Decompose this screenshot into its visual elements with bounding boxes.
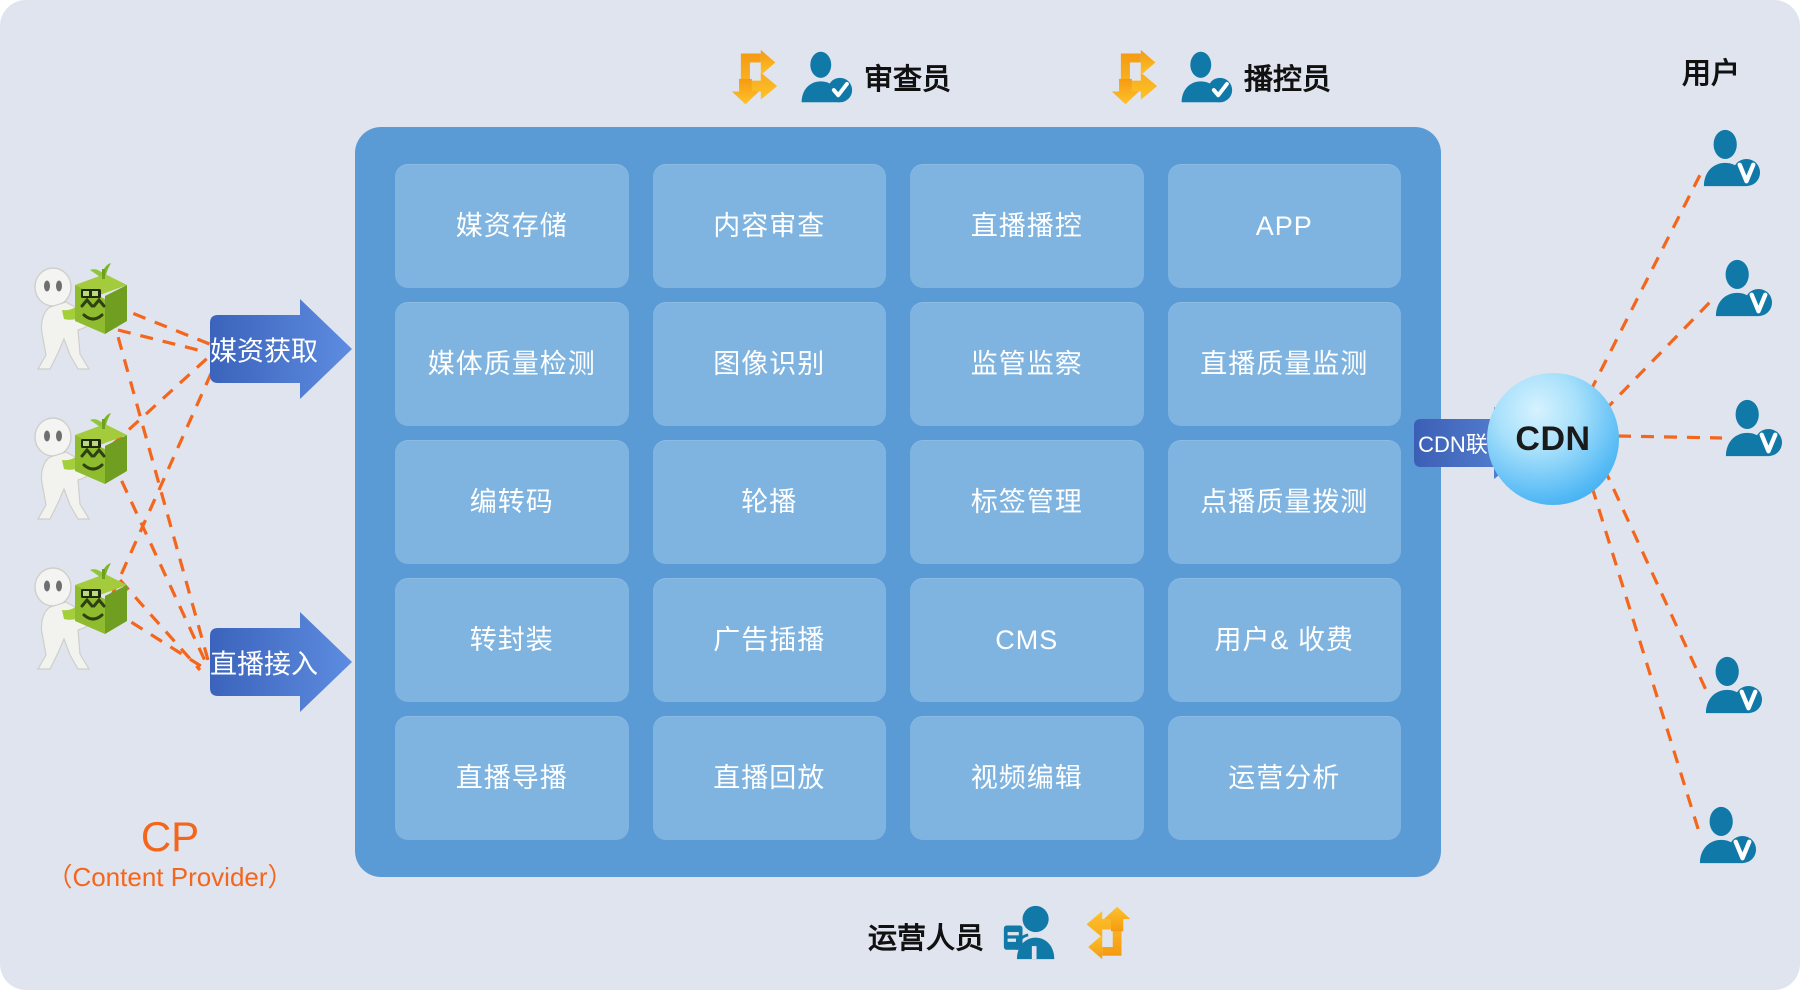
tile-app[interactable]: APP xyxy=(1168,164,1402,288)
tile-label: CMS xyxy=(995,624,1058,656)
capability-grid: 媒资存储 内容审查 直播播控 APP 媒体质量检测 图像识别 监管监察 直播质量… xyxy=(395,164,1401,840)
tile-supervision[interactable]: 监管监察 xyxy=(910,302,1144,426)
cp-full-name: （Content Provider） xyxy=(30,859,310,897)
tile-content-review[interactable]: 内容审查 xyxy=(653,164,887,288)
cp-actor xyxy=(20,405,130,520)
tile-label: 运营分析 xyxy=(1228,762,1340,794)
arrow-media-acquisition[interactable]: 媒资获取 xyxy=(200,295,360,403)
tile-label: 标签管理 xyxy=(971,486,1083,518)
tile-label: 编转码 xyxy=(470,486,554,518)
tile-image-recognition[interactable]: 图像识别 xyxy=(653,302,887,426)
tile-label: 直播质量监测 xyxy=(1200,348,1368,380)
tile-label: 媒体质量检测 xyxy=(428,348,596,380)
tile-label: 图像识别 xyxy=(713,348,825,380)
tile-media-quality-check[interactable]: 媒体质量检测 xyxy=(395,302,629,426)
tile-user-and-billing[interactable]: 用户& 收费 xyxy=(1168,578,1402,702)
fork-arrow-left-up-icon xyxy=(1076,905,1132,966)
user-icon xyxy=(1696,805,1758,865)
tile-repackaging[interactable]: 转封装 xyxy=(395,578,629,702)
diagram-canvas: 媒资存储 内容审查 直播播控 APP 媒体质量检测 图像识别 监管监察 直播质量… xyxy=(0,0,1800,990)
person-check-icon xyxy=(1178,50,1234,104)
tile-media-storage[interactable]: 媒资存储 xyxy=(395,164,629,288)
person-check-icon xyxy=(798,50,854,104)
role-label-reviewer: 审查员 xyxy=(864,56,951,98)
tile-label: 轮播 xyxy=(741,486,797,518)
cp-actor xyxy=(20,255,130,370)
role-broadcast-controller[interactable]: 播控员 xyxy=(1110,48,1331,106)
cp-abbreviation: CP xyxy=(30,815,310,859)
tile-live-control[interactable]: 直播播控 xyxy=(910,164,1144,288)
user-icon xyxy=(1700,128,1762,188)
tile-live-directing[interactable]: 直播导播 xyxy=(395,716,629,840)
tile-transcoding[interactable]: 编转码 xyxy=(395,440,629,564)
user-icon xyxy=(1722,398,1784,458)
tile-label: 直播回放 xyxy=(713,762,825,794)
fork-arrow-icon xyxy=(730,48,788,106)
tile-label: APP xyxy=(1256,210,1313,242)
arrow-label: 媒资获取 xyxy=(208,330,320,369)
tile-ad-insertion[interactable]: 广告插播 xyxy=(653,578,887,702)
media-platform-panel: 媒资存储 内容审查 直播播控 APP 媒体质量检测 图像识别 监管监察 直播质量… xyxy=(355,127,1441,877)
ops-label: 运营人员 xyxy=(868,915,984,957)
person-badge-icon xyxy=(1000,905,1060,966)
tile-video-editing[interactable]: 视频编辑 xyxy=(910,716,1144,840)
tile-carousel[interactable]: 轮播 xyxy=(653,440,887,564)
cp-actor xyxy=(20,555,130,670)
role-label-broadcast-controller: 播控员 xyxy=(1244,56,1331,98)
cdn-label: CDN xyxy=(1515,420,1590,459)
cp-caption: CP （Content Provider） xyxy=(30,815,310,897)
tile-vod-quality-probe[interactable]: 点播质量拨测 xyxy=(1168,440,1402,564)
arrow-label: 直播接入 xyxy=(208,643,320,682)
tile-cms[interactable]: CMS xyxy=(910,578,1144,702)
tile-operations-analysis[interactable]: 运营分析 xyxy=(1168,716,1402,840)
tile-live-quality-monitor[interactable]: 直播质量监测 xyxy=(1168,302,1402,426)
tile-label: 直播导播 xyxy=(456,762,568,794)
tile-label: 内容审查 xyxy=(713,210,825,242)
user-icon xyxy=(1702,655,1764,715)
tile-live-replay[interactable]: 直播回放 xyxy=(653,716,887,840)
cdn-node[interactable]: CDN xyxy=(1487,373,1619,505)
tile-label: 点播质量拨测 xyxy=(1200,486,1368,518)
role-operations-staff[interactable]: 运营人员 xyxy=(868,905,1132,966)
tile-label: 用户& 收费 xyxy=(1214,624,1354,656)
tile-label: 视频编辑 xyxy=(971,762,1083,794)
fork-arrow-icon xyxy=(1110,48,1168,106)
arrow-live-ingest[interactable]: 直播接入 xyxy=(200,608,360,716)
tile-label: 媒资存储 xyxy=(456,210,568,242)
users-title: 用户 xyxy=(1682,50,1740,92)
role-reviewer[interactable]: 审查员 xyxy=(730,48,951,106)
tile-label: 广告插播 xyxy=(713,624,825,656)
tile-label: 监管监察 xyxy=(971,348,1083,380)
user-icon xyxy=(1712,258,1774,318)
tile-tag-management[interactable]: 标签管理 xyxy=(910,440,1144,564)
tile-label: 直播播控 xyxy=(971,210,1083,242)
tile-label: 转封装 xyxy=(470,624,554,656)
